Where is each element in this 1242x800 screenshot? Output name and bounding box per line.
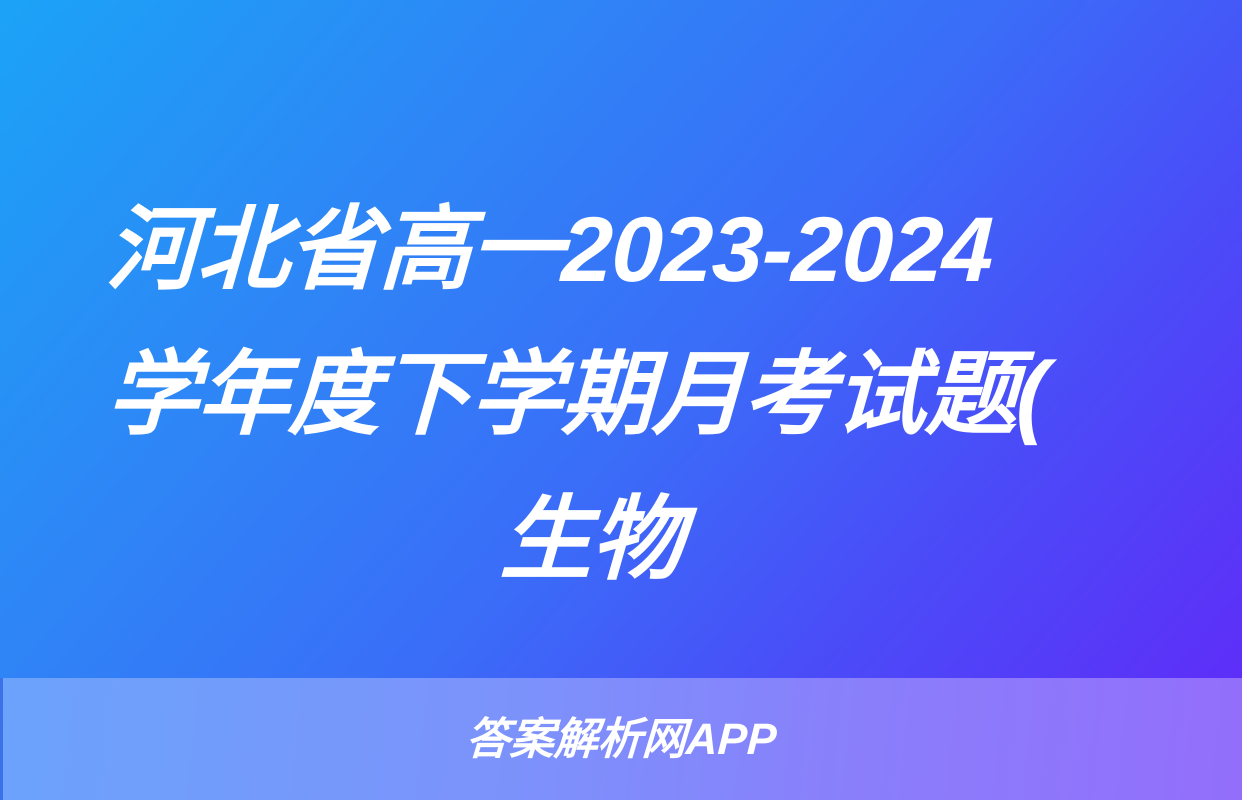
page-title: 河北省高一2023-2024 学年度下学期月考试题( 生物 (104, 178, 1154, 613)
hero-gradient-panel: 河北省高一2023-2024 学年度下学期月考试题( 生物 (0, 0, 1242, 678)
title-line-1: 河北省高一2023-2024 (104, 178, 1159, 323)
brand-watermark-label: 答案解析网APP (465, 718, 778, 762)
title-line-3: 生物 (104, 468, 1159, 613)
footer-brand-band: 答案解析网APP (0, 678, 1242, 800)
title-line-2: 学年度下学期月考试题( (104, 323, 1159, 468)
exam-cover-card: 河北省高一2023-2024 学年度下学期月考试题( 生物 答案解析网APP (0, 0, 1242, 800)
footer-left-edge-strip (0, 678, 3, 800)
